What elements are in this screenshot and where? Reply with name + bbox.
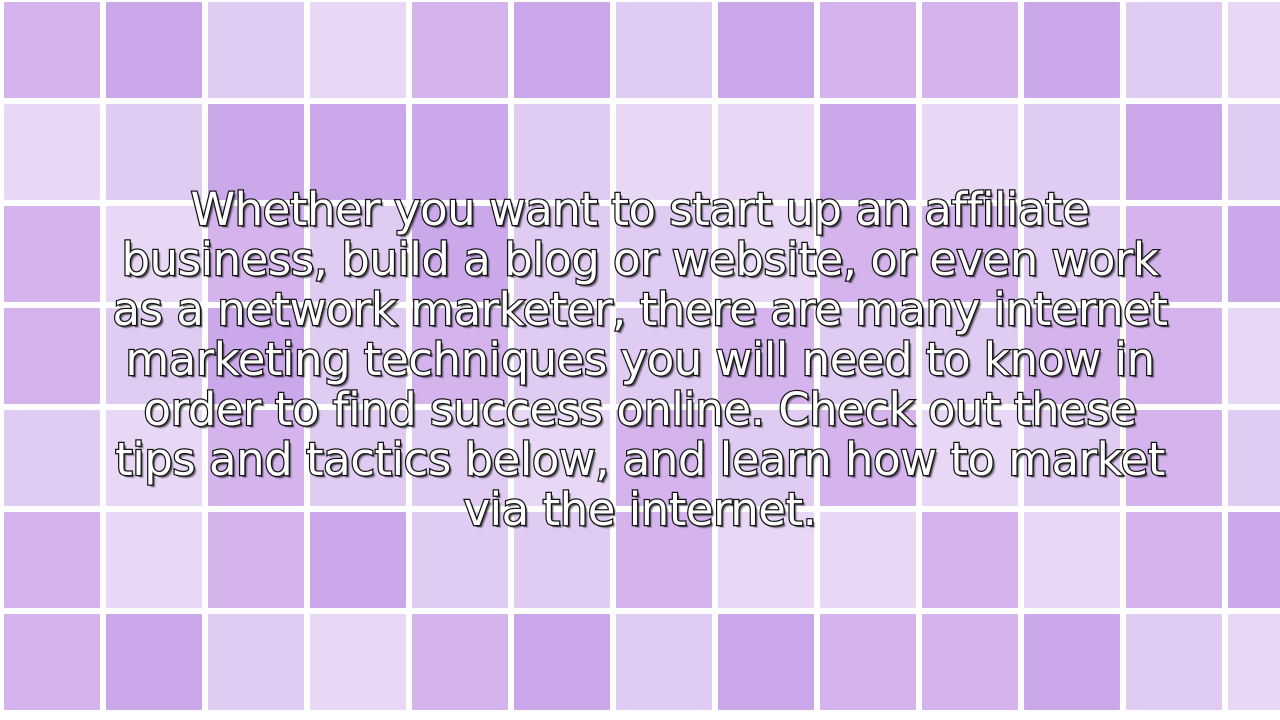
background-tile xyxy=(106,410,202,506)
background-tile xyxy=(1024,206,1120,302)
background-tile xyxy=(616,410,712,506)
background-tile xyxy=(514,308,610,404)
caption-image-canvas: Whether you want to start up an affiliat… xyxy=(0,0,1280,720)
background-tile xyxy=(1024,104,1120,200)
background-tile xyxy=(1126,206,1222,302)
background-tile xyxy=(4,512,100,608)
background-tile xyxy=(1228,104,1280,200)
background-tile xyxy=(1024,614,1120,710)
background-tile xyxy=(820,2,916,98)
background-tile xyxy=(1228,512,1280,608)
background-tile xyxy=(718,206,814,302)
background-tile xyxy=(514,410,610,506)
background-tile xyxy=(106,206,202,302)
background-tile xyxy=(616,308,712,404)
background-tile xyxy=(1228,206,1280,302)
background-tile xyxy=(1126,2,1222,98)
background-tile xyxy=(310,2,406,98)
background-tile xyxy=(208,410,304,506)
background-tile xyxy=(514,512,610,608)
background-tile xyxy=(4,2,100,98)
background-tile xyxy=(922,2,1018,98)
background-tile xyxy=(616,512,712,608)
background-tile xyxy=(106,2,202,98)
background-tile xyxy=(208,2,304,98)
background-tile xyxy=(106,308,202,404)
background-tile xyxy=(4,206,100,302)
background-tile xyxy=(208,206,304,302)
background-tile xyxy=(718,104,814,200)
background-tile xyxy=(4,614,100,710)
background-tile xyxy=(1024,410,1120,506)
background-tile xyxy=(718,410,814,506)
background-tile xyxy=(1228,410,1280,506)
background-tile xyxy=(208,512,304,608)
background-tile xyxy=(310,104,406,200)
background-tile xyxy=(616,2,712,98)
background-tile xyxy=(514,2,610,98)
background-tile xyxy=(616,206,712,302)
background-tile xyxy=(1024,308,1120,404)
background-tile xyxy=(820,104,916,200)
background-tile xyxy=(820,206,916,302)
background-tile xyxy=(4,104,100,200)
background-tile xyxy=(718,2,814,98)
background-tile xyxy=(616,104,712,200)
background-tile xyxy=(820,308,916,404)
background-tile xyxy=(1024,512,1120,608)
background-tile xyxy=(1126,308,1222,404)
background-tile xyxy=(1126,410,1222,506)
background-tile xyxy=(310,512,406,608)
background-tile xyxy=(208,308,304,404)
background-tile xyxy=(208,614,304,710)
background-tile xyxy=(106,614,202,710)
background-tile xyxy=(616,614,712,710)
background-tile xyxy=(412,2,508,98)
background-tile xyxy=(718,512,814,608)
background-tile xyxy=(1126,104,1222,200)
background-tile xyxy=(1228,2,1280,98)
background-tile xyxy=(310,308,406,404)
background-tile xyxy=(718,614,814,710)
background-tile xyxy=(514,104,610,200)
background-tile xyxy=(4,308,100,404)
background-tile xyxy=(412,512,508,608)
background-tile xyxy=(1024,2,1120,98)
background-tile xyxy=(1126,512,1222,608)
background-tile xyxy=(718,308,814,404)
background-tile xyxy=(820,512,916,608)
background-tile xyxy=(1228,614,1280,710)
background-tile xyxy=(412,410,508,506)
background-tile xyxy=(412,206,508,302)
background-tile xyxy=(310,206,406,302)
background-tile xyxy=(922,410,1018,506)
background-tile xyxy=(514,614,610,710)
background-tile xyxy=(922,614,1018,710)
checkered-tile-background xyxy=(4,2,1280,720)
background-tile xyxy=(4,410,100,506)
background-tile xyxy=(820,410,916,506)
background-tile xyxy=(820,614,916,710)
background-tile xyxy=(208,104,304,200)
background-tile xyxy=(922,206,1018,302)
background-tile xyxy=(1126,614,1222,710)
background-tile xyxy=(106,104,202,200)
background-tile xyxy=(310,614,406,710)
background-tile xyxy=(310,410,406,506)
background-tile xyxy=(922,104,1018,200)
background-tile xyxy=(514,206,610,302)
background-tile xyxy=(1228,308,1280,404)
background-tile xyxy=(922,512,1018,608)
background-tile xyxy=(922,308,1018,404)
background-tile xyxy=(106,512,202,608)
background-tile xyxy=(412,104,508,200)
background-tile xyxy=(412,308,508,404)
background-tile xyxy=(412,614,508,710)
